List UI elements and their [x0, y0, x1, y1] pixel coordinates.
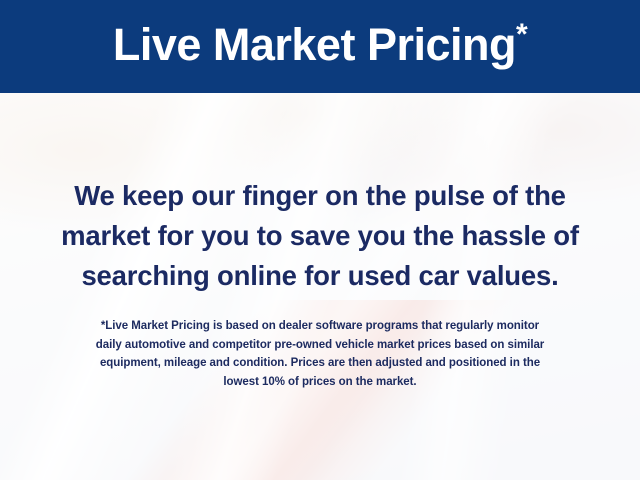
- disclaimer-line-1: *Live Market Pricing is based on dealer …: [20, 317, 620, 336]
- headline-line-3: searching online for used car values.: [20, 256, 620, 296]
- page-title: Live Market Pricing*: [113, 22, 527, 71]
- promotional-graphic: Live Market Pricing* We keep our finger …: [0, 0, 640, 480]
- headline-line-1: We keep our finger on the pulse of the: [20, 176, 620, 216]
- headline-line-2: market for you to save you the hassle of: [20, 216, 620, 256]
- disclaimer-block: *Live Market Pricing is based on dealer …: [20, 317, 620, 391]
- disclaimer-line-2: daily automotive and competitor pre-owne…: [20, 336, 620, 355]
- disclaimer-line-3: equipment, mileage and condition. Prices…: [20, 354, 620, 373]
- title-asterisk: *: [516, 18, 527, 51]
- page-title-text: Live Market Pricing: [113, 19, 516, 70]
- title-banner: Live Market Pricing*: [0, 0, 640, 93]
- headline-block: We keep our finger on the pulse of the m…: [20, 176, 620, 296]
- disclaimer-line-4: lowest 10% of prices on the market.: [20, 373, 620, 392]
